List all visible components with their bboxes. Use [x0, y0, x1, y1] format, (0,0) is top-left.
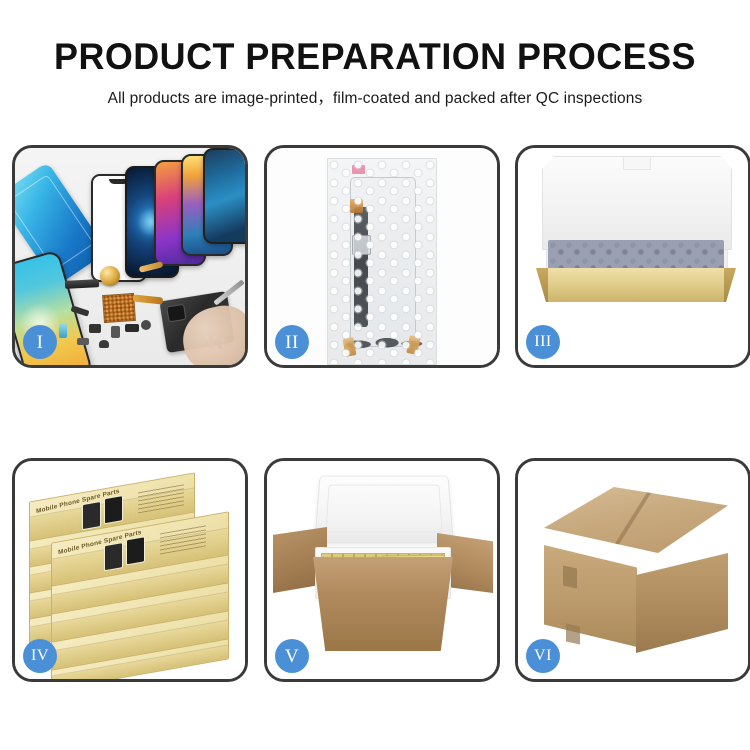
- speaker-module-icon: [100, 266, 120, 286]
- phone-graphic-icon: [82, 501, 101, 530]
- step-badge-5: V: [275, 639, 309, 673]
- step-numeral: I: [37, 333, 44, 352]
- phone-graphic-icon: [104, 495, 123, 524]
- bubble-wrap-bag-icon: [327, 158, 437, 365]
- stacked-gold-boxes-icon: Mobile Phone Spare Parts Mobile Phone Sp…: [19, 479, 245, 669]
- step-badge-6: VI: [526, 639, 560, 673]
- process-step-panel-1: I: [12, 145, 248, 368]
- chip-bar-icon: [65, 279, 99, 289]
- process-step-grid: I II: [0, 0, 750, 750]
- phone-graphic-icon: [104, 542, 123, 571]
- process-step-panel-3: III: [515, 145, 750, 368]
- bubble-texture-icon: [328, 159, 436, 364]
- step-badge-3: III: [526, 325, 560, 359]
- small-component-icon: [77, 338, 89, 345]
- foam-lid-icon: [314, 476, 454, 543]
- chip-grid-icon: [102, 293, 136, 323]
- tape-mark-icon: [566, 624, 580, 645]
- smartphone-colored-3-icon: [203, 148, 245, 244]
- process-step-panel-6: VI: [515, 458, 750, 682]
- step-badge-4: IV: [23, 639, 57, 673]
- carton-front-face-icon: [544, 545, 637, 647]
- small-component-icon: [111, 326, 120, 338]
- tape-mark-icon: [563, 566, 577, 589]
- phone-graphic-icon: [126, 536, 145, 565]
- step-numeral: V: [285, 647, 299, 666]
- small-component-icon: [99, 340, 109, 348]
- open-carton-icon: [307, 557, 459, 651]
- step-numeral: IV: [31, 648, 49, 664]
- white-foam-lid-icon: [542, 156, 732, 250]
- process-step-panel-4: Mobile Phone Spare Parts Mobile Phone Sp…: [12, 458, 248, 682]
- small-component-icon: [125, 324, 139, 332]
- small-component-icon: [89, 324, 101, 333]
- step-badge-2: II: [275, 325, 309, 359]
- step-numeral: III: [534, 334, 551, 350]
- flex-cable-icon: [133, 294, 164, 304]
- page-root: PRODUCT PREPARATION PROCESS All products…: [0, 0, 750, 750]
- process-step-panel-5: V: [264, 458, 500, 682]
- step-badge-1: I: [23, 325, 57, 359]
- gold-kraft-box-base-icon: [536, 268, 736, 302]
- carton-side-face-icon: [636, 553, 728, 653]
- small-component-icon: [141, 320, 151, 330]
- carton-seam-icon: [544, 487, 728, 553]
- process-step-panel-2: II: [264, 145, 500, 368]
- small-component-icon: [59, 324, 67, 338]
- step-numeral: II: [285, 333, 299, 352]
- step-numeral: VI: [534, 648, 552, 664]
